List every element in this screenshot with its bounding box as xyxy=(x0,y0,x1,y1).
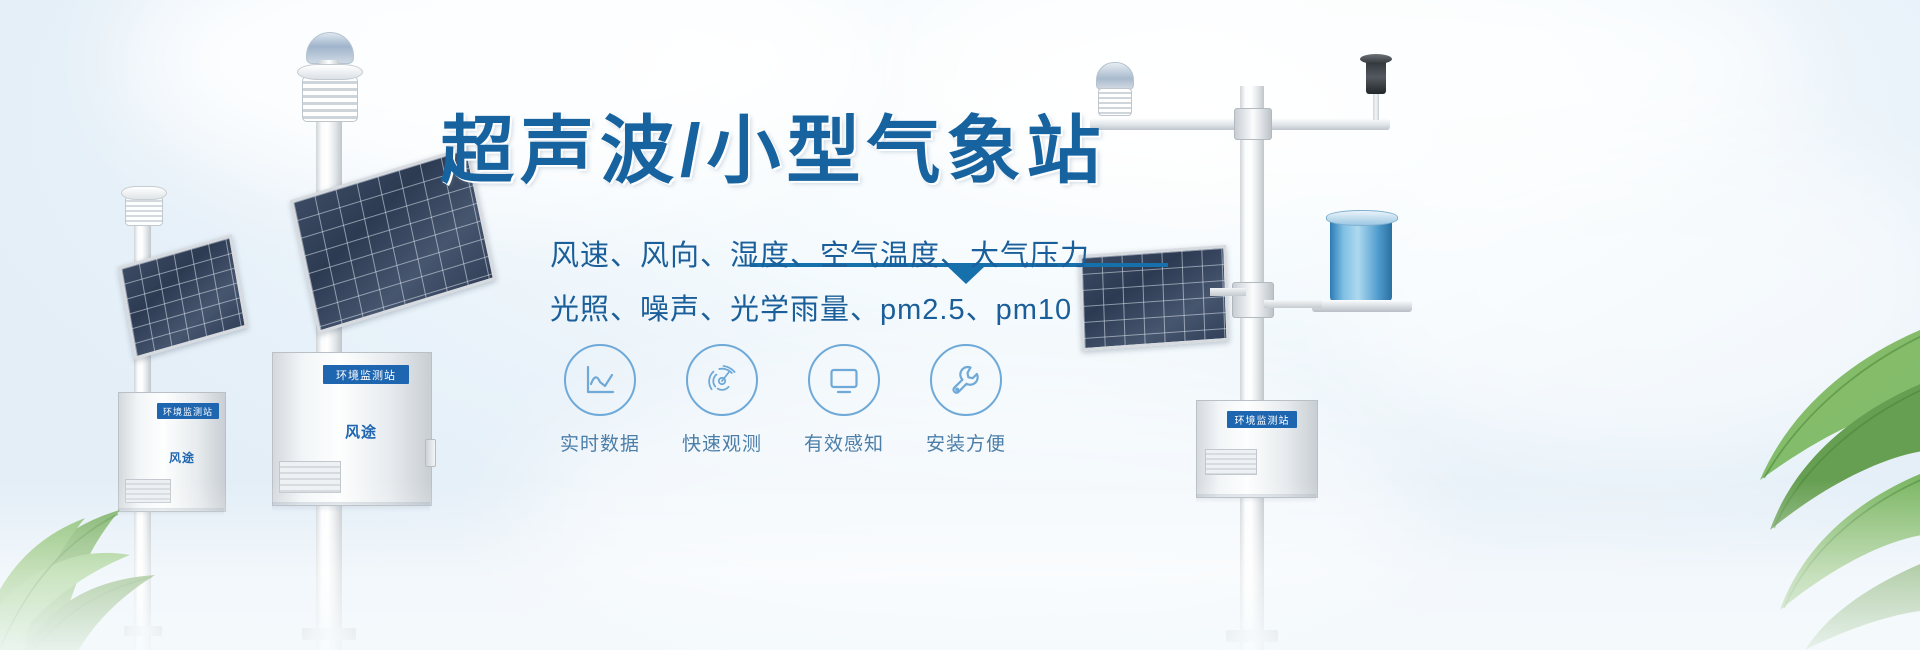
banner-title: 超声波/小型气象站 xyxy=(440,110,1140,191)
monitor-screen-icon xyxy=(808,344,880,416)
feature-label: 有效感知 xyxy=(804,429,884,456)
subtitle-line-2: 光照、噪声、光学雨量、pm2.5、pm10 xyxy=(550,286,1110,328)
product-banner: 环境监测站 风途 环境监测站 风途 xyxy=(0,0,1920,650)
feature-item-fast-observation[interactable]: 快速观测 xyxy=(670,344,774,456)
feature-list: 实时数据 快速观测 xyxy=(548,344,1018,456)
feature-item-easy-install[interactable]: 安装方便 xyxy=(914,344,1018,456)
wrench-icon xyxy=(930,344,1002,416)
banner-content: 超声波/小型气象站 风速、风向、湿度、空气温度、大气压力 光照、噪声、光学雨量、… xyxy=(0,0,1920,650)
feature-label: 实时数据 xyxy=(560,429,640,456)
feature-item-effective-sensing[interactable]: 有效感知 xyxy=(792,344,896,456)
feature-label: 安装方便 xyxy=(926,429,1006,456)
feature-item-realtime-data[interactable]: 实时数据 xyxy=(548,344,652,456)
subtitle-line-1: 风速、风向、湿度、空气温度、大气压力 xyxy=(550,232,1110,274)
feature-label: 快速观测 xyxy=(682,429,762,456)
radar-wave-icon xyxy=(686,344,758,416)
line-chart-icon xyxy=(564,344,636,416)
